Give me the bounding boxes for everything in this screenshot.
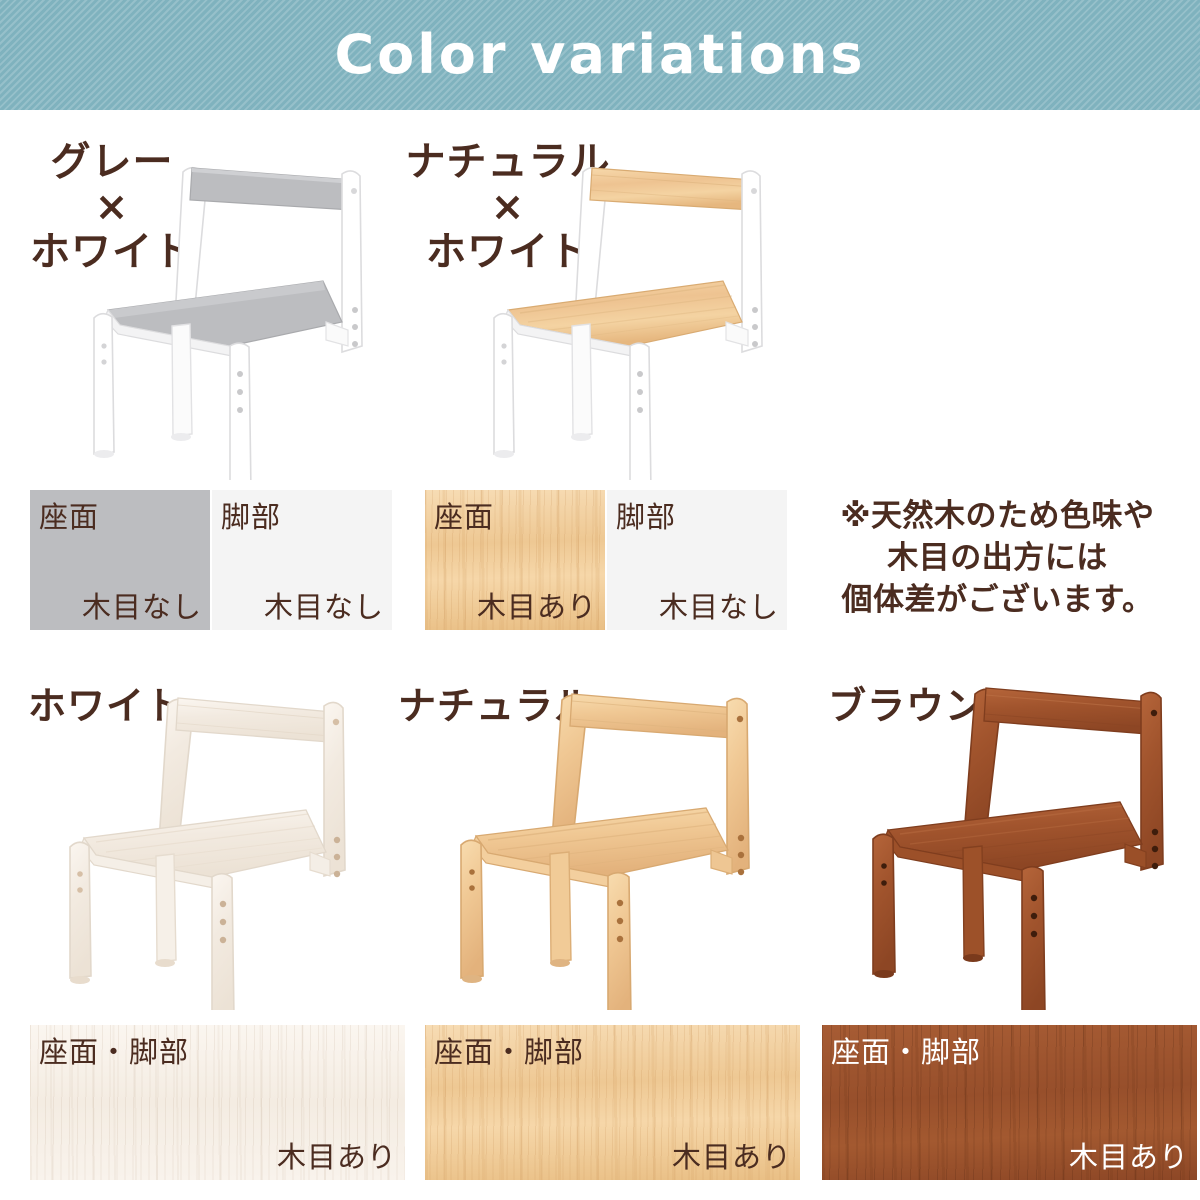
page-header: Color variations	[0, 0, 1200, 110]
swatch-grain-label: 木目あり	[277, 1134, 397, 1176]
swatch-brown-seat-legs: 座面・脚部 木目あり	[822, 1025, 1197, 1180]
swatch-part-label: 座面・脚部	[434, 1029, 584, 1071]
swatch-grain-label: 木目なし	[82, 584, 202, 626]
chair-image-natural	[450, 690, 780, 1010]
chair-image-natural-white	[480, 150, 780, 480]
swatch-natural-white-legs: 脚部 木目なし	[607, 490, 787, 630]
swatch-part-label: 座面・脚部	[39, 1029, 189, 1071]
swatch-part-label: 座面	[434, 494, 494, 536]
swatch-white-seat-legs: 座面・脚部 木目あり	[30, 1025, 405, 1180]
swatch-grain-label: 木目なし	[659, 584, 779, 626]
swatch-grain-label: 木目なし	[264, 584, 384, 626]
swatch-part-label: 脚部	[221, 494, 281, 536]
swatch-part-label: 座面	[39, 494, 99, 536]
natural-wood-note: ※天然木のため色味や 木目の出方には 個体差がございます。	[805, 495, 1190, 621]
swatch-part-label: 脚部	[616, 494, 676, 536]
swatch-gray-white-seat: 座面 木目なし	[30, 490, 210, 630]
swatch-grain-label: 木目あり	[672, 1134, 792, 1176]
swatch-grain-label: 木目あり	[1069, 1134, 1189, 1176]
swatch-grain-label: 木目あり	[477, 584, 597, 626]
page-title: Color variations	[335, 28, 866, 82]
swatch-gray-white-legs: 脚部 木目なし	[212, 490, 392, 630]
swatch-natural-white-seat: 座面 木目あり	[425, 490, 605, 630]
swatch-natural-seat-legs: 座面・脚部 木目あり	[425, 1025, 800, 1180]
swatch-part-label: 座面・脚部	[831, 1029, 981, 1071]
chair-image-brown	[860, 680, 1190, 1010]
chair-image-white	[60, 690, 380, 1010]
chair-image-gray-white	[80, 150, 380, 480]
